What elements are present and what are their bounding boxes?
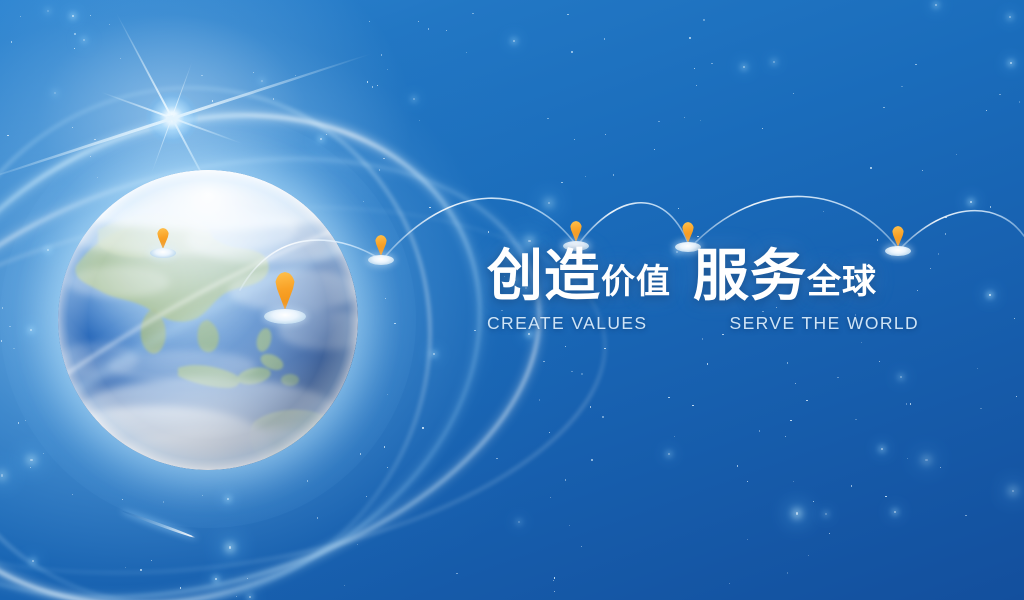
star-sparkle <box>696 85 697 86</box>
star-sparkle <box>668 397 669 398</box>
star-sparkle <box>901 86 902 87</box>
star-sparkle <box>881 448 883 450</box>
star-sparkle <box>773 61 775 63</box>
star-sparkle <box>413 98 415 100</box>
pin-drop-icon <box>892 226 904 247</box>
star-sparkle <box>94 139 95 140</box>
star-sparkle <box>585 176 586 177</box>
star-sparkle <box>935 4 937 6</box>
star-sparkle <box>894 511 896 513</box>
star-sparkle <box>247 578 248 579</box>
star-sparkle <box>422 427 423 428</box>
star-sparkle <box>418 21 419 22</box>
star-sparkle <box>229 546 232 549</box>
globe-pin-oceania[interactable] <box>264 272 306 324</box>
star-sparkle <box>548 202 551 205</box>
star-sparkle <box>980 408 981 409</box>
star-sparkle <box>855 419 856 420</box>
star-sparkle <box>851 485 852 486</box>
pin-drop-icon <box>375 235 387 256</box>
headline-create: 创造 <box>487 244 601 307</box>
star-sparkle <box>565 346 566 347</box>
star-sparkle <box>700 120 701 121</box>
headline-world: 全球 <box>807 263 877 301</box>
star-sparkle <box>883 107 884 108</box>
star-sparkle <box>549 432 550 433</box>
star-sparkle <box>737 465 738 466</box>
star-sparkle <box>759 430 760 431</box>
star-sparkle <box>917 290 918 291</box>
star-sparkle <box>793 93 794 94</box>
star-sparkle <box>433 353 435 355</box>
star-sparkle <box>261 80 263 82</box>
star-sparkle <box>581 373 582 374</box>
star-sparkle <box>528 240 531 243</box>
star-sparkle <box>613 174 614 175</box>
star-sparkle <box>658 121 659 122</box>
star-sparkle <box>74 48 75 49</box>
star-sparkle <box>366 496 367 497</box>
subtitle-create-values: CREATE VALUES <box>487 313 648 334</box>
star-sparkle <box>571 51 572 52</box>
star-sparkle <box>539 399 540 400</box>
star-sparkle <box>925 459 928 462</box>
star-sparkle <box>567 14 568 15</box>
star-sparkle <box>604 38 605 39</box>
star-sparkle <box>785 436 786 437</box>
star-sparkle <box>571 371 572 372</box>
pin-drop-icon <box>157 228 169 249</box>
headline-serve: 服务 <box>693 244 807 307</box>
star-sparkle <box>885 496 886 497</box>
star-sparkle <box>554 591 555 592</box>
star-sparkle <box>945 233 946 234</box>
star-sparkle <box>837 377 838 378</box>
star-sparkle <box>249 596 251 598</box>
star-sparkle <box>743 66 745 68</box>
star-sparkle <box>381 54 382 55</box>
star-sparkle <box>120 58 121 59</box>
star-sparkle <box>30 467 31 468</box>
star-sparkle <box>787 572 788 573</box>
star-sparkle <box>384 446 385 447</box>
star-sparkle <box>581 546 582 547</box>
star-sparkle <box>550 497 551 498</box>
star-sparkle <box>372 86 373 87</box>
star-sparkle <box>747 481 748 482</box>
star-sparkle <box>678 208 679 209</box>
star-sparkle <box>808 555 809 556</box>
banner-stage: 创造价值服务全球 CREATE VALUES SERVE THE WORLD <box>0 0 1024 600</box>
star-sparkle <box>320 138 322 140</box>
star-sparkle <box>989 294 991 296</box>
pin-base-disc <box>368 255 394 265</box>
star-sparkle <box>900 376 902 378</box>
star-sparkle <box>74 33 75 34</box>
star-sparkle <box>428 28 429 29</box>
star-sparkle <box>762 128 763 129</box>
star-sparkle <box>999 94 1000 95</box>
star-sparkle <box>1009 16 1011 18</box>
star-sparkle <box>1019 101 1020 102</box>
star-sparkle <box>990 206 991 207</box>
star-sparkle <box>986 110 987 111</box>
star-sparkle <box>692 405 693 406</box>
star-sparkle <box>870 167 871 168</box>
star-sparkle <box>654 149 655 150</box>
star-sparkle <box>561 182 562 183</box>
star-sparkle <box>180 587 181 588</box>
star-sparkle <box>383 158 384 159</box>
star-sparkle <box>813 501 814 502</box>
star-sparkle <box>565 479 566 480</box>
star-sparkle <box>201 75 202 76</box>
star-sparkle <box>518 521 520 523</box>
star-sparkle <box>970 201 972 203</box>
star-sparkle <box>543 361 544 362</box>
pin-drop-icon <box>682 222 694 243</box>
star-sparkle <box>590 406 591 407</box>
star-sparkle <box>326 134 327 135</box>
pin-drop-icon <box>570 221 582 242</box>
star-sparkle <box>295 75 296 76</box>
star-sparkle <box>877 239 878 240</box>
star-sparkle <box>367 81 368 82</box>
star-sparkle <box>945 217 946 218</box>
star-sparkle <box>553 580 554 581</box>
star-sparkle <box>674 436 675 437</box>
star-sparkle <box>1 474 4 477</box>
star-sparkle <box>32 560 34 562</box>
globe-sphere <box>58 170 358 470</box>
star-sparkle <box>387 69 388 70</box>
star-sparkle <box>554 577 555 578</box>
earth-globe <box>58 170 358 470</box>
star-sparkle <box>18 422 19 423</box>
pin-base-disc <box>150 248 176 258</box>
star-sparkle <box>1016 396 1017 397</box>
star-sparkle <box>938 253 939 254</box>
star-sparkle <box>694 68 695 69</box>
star-sparkle <box>907 458 908 459</box>
pin-drop-icon <box>275 272 295 310</box>
star-sparkle <box>109 24 110 25</box>
star-sparkle <box>689 37 690 38</box>
subtitle-serve-the-world: SERVE THE WORLD <box>730 313 920 334</box>
star-sparkle <box>253 72 254 73</box>
star-sparkle <box>72 15 74 17</box>
star-sparkle <box>861 342 862 343</box>
star-sparkle <box>1014 318 1015 319</box>
star-sparkle <box>456 573 457 574</box>
star-sparkle <box>711 63 712 64</box>
star-sparkle <box>702 338 703 339</box>
star-sparkle <box>574 139 575 140</box>
headline-values: 价值 <box>601 263 671 301</box>
star-sparkle <box>83 39 85 41</box>
star-sparkle <box>379 169 380 170</box>
star-sparkle <box>668 453 670 455</box>
star-sparkle <box>906 403 907 404</box>
star-sparkle <box>344 585 345 586</box>
headline-block: 创造价值服务全球 CREATE VALUES SERVE THE WORLD <box>487 248 907 334</box>
star-sparkle <box>72 494 73 495</box>
star-sparkle <box>956 154 957 155</box>
star-sparkle <box>72 127 73 128</box>
globe-surface <box>58 170 358 470</box>
star-sparkle <box>922 170 923 171</box>
star-sparkle <box>466 52 467 53</box>
star-sparkle <box>474 330 475 331</box>
star-sparkle <box>825 513 827 515</box>
star-sparkle <box>11 41 12 42</box>
star-sparkle <box>747 539 748 540</box>
globe-pin-asia[interactable] <box>150 228 176 258</box>
pin-base-disc <box>264 309 306 324</box>
star-sparkle <box>787 362 788 363</box>
star-sparkle <box>317 517 318 518</box>
star-sparkle <box>357 544 358 545</box>
star-sparkle <box>940 467 941 468</box>
star-sparkle <box>829 533 830 534</box>
star-sparkle <box>795 383 796 384</box>
star-sparkle <box>965 515 966 516</box>
star-sparkle <box>707 363 708 364</box>
star-sparkle <box>43 453 44 454</box>
star-sparkle <box>7 135 8 136</box>
star-sparkle <box>90 15 91 16</box>
star-sparkle <box>977 368 978 369</box>
star-sparkle <box>151 560 152 561</box>
star-sparkle <box>879 361 880 362</box>
star-sparkle <box>910 403 911 404</box>
headline-line: 创造价值服务全球 <box>487 248 907 304</box>
star-sparkle <box>604 348 605 349</box>
star-sparkle <box>54 92 56 94</box>
star-sparkle <box>547 118 548 119</box>
star-sparkle <box>429 207 430 208</box>
star-sparkle <box>236 596 237 597</box>
star-sparkle <box>602 416 603 417</box>
star-sparkle <box>140 569 141 570</box>
star-sparkle <box>488 231 489 232</box>
star-sparkle <box>30 459 33 462</box>
star-sparkle <box>20 16 21 17</box>
star-sparkle <box>915 64 916 65</box>
star-sparkle <box>472 13 473 14</box>
star-sparkle <box>569 525 570 526</box>
star-sparkle <box>419 120 420 121</box>
star-sparkle <box>125 567 126 568</box>
star-sparkle <box>1010 62 1012 64</box>
subtitle-line: CREATE VALUES SERVE THE WORLD <box>487 313 907 334</box>
star-sparkle <box>796 512 799 515</box>
star-sparkle <box>387 467 388 468</box>
star-sparkle <box>729 583 730 584</box>
star-sparkle <box>806 400 807 401</box>
star-sparkle <box>47 10 49 12</box>
star-sparkle <box>793 481 794 482</box>
star-sparkle <box>930 268 931 269</box>
star-sparkle <box>605 134 606 135</box>
star-sparkle <box>591 459 592 460</box>
star-sparkle <box>823 211 824 212</box>
star-sparkle <box>703 19 704 20</box>
star-sparkle <box>215 578 217 580</box>
star-sparkle <box>212 100 213 101</box>
star-sparkle <box>273 98 274 99</box>
star-sparkle <box>369 21 370 22</box>
star-sparkle <box>446 30 447 31</box>
star-sparkle <box>513 40 515 42</box>
star-sparkle <box>684 117 685 118</box>
star-sparkle <box>377 85 378 86</box>
route-pin-1[interactable] <box>368 235 394 265</box>
star-sparkle <box>790 420 791 421</box>
star-sparkle <box>496 458 497 459</box>
star-sparkle <box>1012 490 1015 493</box>
